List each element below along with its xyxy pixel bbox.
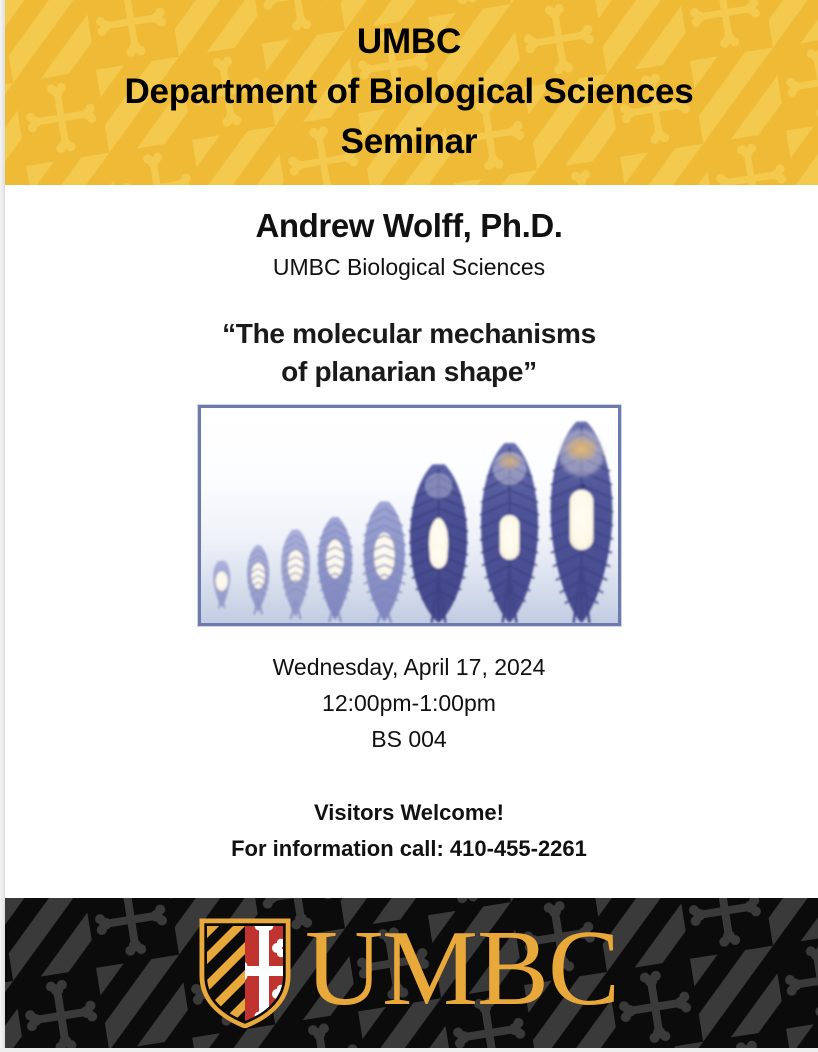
page-edge-bottom [0,1048,818,1052]
event-time: 12:00pm-1:00pm [0,685,818,721]
event-date: Wednesday, April 17, 2024 [0,649,818,685]
visitor-notice: Visitors Welcome! For information call: … [0,795,818,867]
header-line-1: UMBC [0,17,818,67]
event-logistics: Wednesday, April 17, 2024 12:00pm-1:00pm… [0,649,818,757]
visitors-welcome-text: Visitors Welcome! [0,795,818,831]
page-edge-left [0,0,5,1052]
flyer-header: UMBC Department of Biological Sciences S… [0,0,818,185]
header-title: UMBC Department of Biological Sciences S… [0,0,818,167]
flyer-body: Andrew Wolff, Ph.D. UMBC Biological Scie… [0,185,818,898]
header-line-2: Department of Biological Sciences [0,67,818,117]
talk-title-line-1: “The molecular mechanisms [0,315,818,353]
umbc-logo: UMBC [0,898,818,1048]
talk-title-line-2: of planarian shape” [0,353,818,391]
flyer-footer: UMBC [0,898,818,1048]
contact-phone-text: For information call: 410-455-2261 [0,831,818,867]
speaker-affiliation: UMBC Biological Sciences [0,253,818,281]
umbc-wordmark: UMBC [305,915,619,1023]
header-line-3: Seminar [0,117,818,167]
maryland-shield-icon [199,918,291,1028]
planarian-figure [198,405,621,626]
speaker-name: Andrew Wolff, Ph.D. [0,206,818,246]
talk-title: “The molecular mechanisms of planarian s… [0,315,818,391]
event-room: BS 004 [0,721,818,757]
seminar-flyer: UMBC Department of Biological Sciences S… [0,0,818,1052]
